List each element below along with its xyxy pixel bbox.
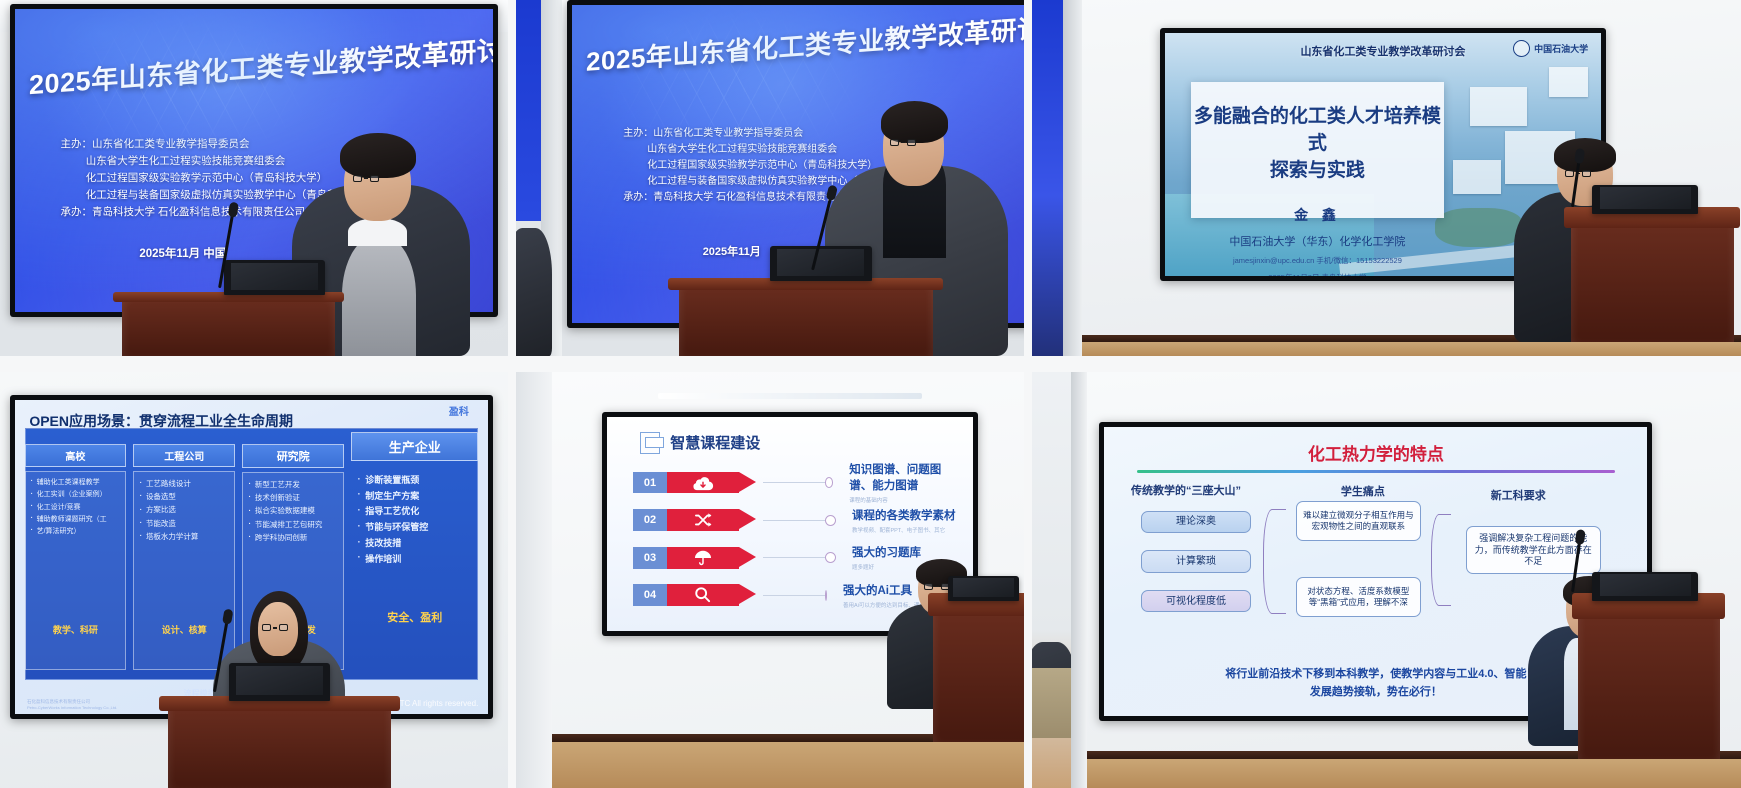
aerial-building bbox=[1453, 160, 1501, 194]
brand-block: 石化盈科信息技术有限责任公司 Petro-CyberWorks Informat… bbox=[27, 699, 117, 710]
slide-date-place: 2025年11月8日 青岛科技大学 bbox=[1268, 272, 1366, 276]
list-item: 设备选型 bbox=[140, 491, 229, 502]
slide-title-line-2: 探索与实践 bbox=[1270, 158, 1365, 185]
panel-chemical-thermodynamics-features[interactable]: 化工热力学的特点 传统教学的“三座大山” 学生痛点 新工科要求 理论深奥 计算繁… bbox=[1032, 372, 1741, 788]
list-item: 化工设计/竞赛 bbox=[31, 503, 120, 514]
row-badge: 01 bbox=[633, 472, 739, 494]
document-outline-icon bbox=[640, 432, 660, 454]
feature-row: 01 bbox=[633, 464, 962, 502]
connector-dot bbox=[825, 477, 833, 488]
speaker-sweater bbox=[342, 234, 415, 356]
list-item: 诊断装置瓶颈 bbox=[358, 474, 472, 488]
wall-column bbox=[1063, 0, 1081, 356]
room-floor bbox=[516, 742, 1024, 788]
row-number: 04 bbox=[633, 584, 667, 606]
list-item: 拟合实验数据建模 bbox=[248, 505, 337, 516]
list-item: 技术创新验证 bbox=[248, 492, 337, 503]
row-text: 知识图谱、问题图谱、能力图谱 课程的基础内容 bbox=[849, 461, 962, 504]
mountain-box-3: 可视化程度低 bbox=[1141, 590, 1251, 612]
title-underline-rule bbox=[1137, 470, 1615, 473]
aerial-building bbox=[1549, 67, 1588, 96]
aerial-greenery bbox=[1435, 208, 1522, 247]
connector-dot bbox=[825, 515, 836, 526]
list-item: 节能与环保管控 bbox=[358, 521, 472, 535]
gutter-horizontal bbox=[0, 356, 1741, 372]
list-item: 新型工艺开发 bbox=[248, 479, 337, 490]
scenario-column-universities: 高校 辅助化工类课程教学 化工实训（企业案例） 化工设计/竞赛 辅助教师课题研究… bbox=[25, 444, 127, 670]
adjacent-screen-edge bbox=[516, 0, 541, 221]
speaker-glasses bbox=[262, 624, 288, 631]
title-card: 多能融合的化工类人才培养模式 探索与实践 金 鑫 中国石油大学（华东）化学化工学… bbox=[1191, 82, 1444, 218]
list-item: 节能改造 bbox=[140, 518, 229, 529]
row-subtext: 教学视频、配套PPT、电子图书、其它 bbox=[852, 526, 956, 534]
row-badge: 03 bbox=[633, 547, 739, 569]
scenario-column-production-enterprise: 生产企业 诊断装置瓶颈 制定生产方案 指导工艺优化 节能与环保管控 技改技措 操… bbox=[351, 444, 478, 670]
list-item: 节能减排工艺包研究 bbox=[248, 519, 337, 530]
column-header-pain-points: 学生痛点 bbox=[1341, 483, 1385, 499]
shuffle-icon bbox=[667, 509, 739, 531]
list-item: 指导工艺优化 bbox=[358, 505, 472, 519]
brace-left bbox=[1263, 509, 1285, 614]
left-wall-panel bbox=[516, 372, 552, 788]
slide-title-line-1: 多能融合的化工类人才培养模式 bbox=[1191, 104, 1444, 158]
lectern-5 bbox=[933, 593, 1024, 743]
lecture-room-4: 盈科 OPEN应用场景：贯穿流程工业全生命周期 高校 辅助化工类课程教学 化工实… bbox=[0, 372, 508, 788]
column-header: 工程公司 bbox=[133, 444, 235, 467]
speaker-collar bbox=[348, 218, 407, 246]
row-heading: 知识图谱、问题图谱、能力图谱 bbox=[849, 461, 962, 493]
list-item: 制定生产方案 bbox=[358, 490, 472, 504]
slide-date-line: 2025年11月 bbox=[703, 243, 761, 259]
slide-title: 化工热力学的特点 bbox=[1104, 440, 1647, 465]
connector-dot bbox=[825, 590, 827, 601]
pcitc-logo: 盈科 bbox=[449, 403, 469, 418]
mountain-box-1: 理论深奥 bbox=[1141, 511, 1251, 533]
row-number: 02 bbox=[633, 509, 667, 531]
lectern-1 bbox=[122, 292, 335, 356]
speaker-name: 金 鑫 bbox=[1294, 205, 1341, 225]
row-badge: 02 bbox=[633, 509, 739, 531]
speaker-hair bbox=[1554, 138, 1616, 172]
lectern-2 bbox=[679, 278, 933, 356]
gutter-vertical-right bbox=[1024, 0, 1032, 788]
speaker-hair bbox=[340, 133, 415, 179]
slide-title-row: 智慧课程建设 bbox=[640, 432, 760, 454]
photo-collage: 2025年山东省化工类专业教学改革研讨会 主办：山东省化工类专业教学指导委员会 … bbox=[0, 0, 1741, 788]
lecture-room-1: 2025年山东省化工类专业教学改革研讨会 主办：山东省化工类专业教学指导委员会 … bbox=[0, 0, 508, 356]
speaker-glasses bbox=[890, 139, 916, 146]
lectern-6 bbox=[1578, 593, 1720, 759]
list-item: 塔板水力学计算 bbox=[140, 531, 229, 542]
background-person-6 bbox=[1032, 572, 1075, 738]
background-person-trousers bbox=[1032, 668, 1071, 738]
mountain-box-2: 计算繁琐 bbox=[1141, 550, 1251, 572]
room-floor bbox=[1032, 759, 1741, 788]
lecture-room-3: 山东省化工类专业教学改革研讨会 中国石油大学 多能融合的化工类人才培养模式 探索… bbox=[1032, 0, 1741, 356]
speaker-affiliation: 中国石油大学（华东）化学化工学院 bbox=[1229, 233, 1405, 249]
lectern-3 bbox=[1571, 207, 1734, 342]
decorative-mesh-globe bbox=[53, 15, 316, 161]
panel-keynote-jin-xin[interactable]: 山东省化工类专业教学改革研讨会 中国石油大学 多能融合的化工类人才培养模式 探索… bbox=[1032, 0, 1741, 356]
brand-name-en: Petro-CyberWorks Information Technology … bbox=[27, 705, 117, 710]
row-text: 课程的各类教学素材 教学视频、配套PPT、电子图书、其它 bbox=[852, 507, 956, 534]
list-item: 技改技措 bbox=[358, 537, 472, 551]
speaker-hair bbox=[881, 101, 949, 144]
background-person-body bbox=[516, 228, 552, 356]
university-logo-name: 中国石油大学 bbox=[1534, 42, 1588, 55]
list-item: 方案比选 bbox=[140, 504, 229, 515]
room-floor bbox=[1032, 342, 1741, 356]
row-heading: 课程的各类教学素材 bbox=[852, 507, 956, 523]
panel-smart-course-construction[interactable]: 智慧课程建设 01 bbox=[516, 372, 1024, 788]
lecture-room-6: 化工热力学的特点 传统教学的“三座大山” 学生痛点 新工科要求 理论深奥 计算繁… bbox=[1032, 372, 1741, 788]
pain-point-box-2: 对状态方程、活度系数模型等“黑箱”式应用，理解不深 bbox=[1296, 577, 1421, 617]
column-header-new-engineering: 新工科要求 bbox=[1491, 487, 1546, 503]
speaker-glasses bbox=[924, 583, 950, 590]
umbrella-icon bbox=[667, 547, 739, 569]
laptop-5 bbox=[948, 576, 1019, 601]
column-header: 研究院 bbox=[242, 444, 344, 468]
panel-open-application-scenarios[interactable]: 盈科 OPEN应用场景：贯穿流程工业全生命周期 高校 辅助化工类课程教学 化工实… bbox=[0, 372, 508, 788]
column-header-traditional: 传统教学的“三座大山” bbox=[1131, 482, 1241, 498]
list-item: 操作培训 bbox=[358, 553, 472, 567]
gutter-vertical-left bbox=[508, 0, 516, 788]
connector-line bbox=[763, 520, 825, 521]
slide-title: 智慧课程建设 bbox=[670, 432, 760, 453]
list-item: 辅助化工类课程教学 bbox=[31, 478, 120, 489]
cloud-download-icon bbox=[667, 472, 739, 494]
lecture-room-5: 智慧课程建设 01 bbox=[516, 372, 1024, 788]
speaker-contact: jamesjinxin@upc.edu.cn 手机/微信：15153222529 bbox=[1233, 255, 1402, 266]
connector-line bbox=[763, 557, 825, 558]
laptop-2 bbox=[770, 246, 872, 282]
adjacent-blue-screen bbox=[1032, 0, 1063, 356]
pain-point-box-1: 难以建立微观分子相互作用与宏观物性之间的直观联系 bbox=[1296, 501, 1421, 541]
list-item: 工艺路线设计 bbox=[140, 478, 229, 489]
slide-date-line: 2025年11月 中国 bbox=[139, 245, 226, 261]
connector-line bbox=[763, 482, 825, 483]
magnifier-icon bbox=[667, 584, 739, 606]
column-tag: 安全、盈利 bbox=[351, 609, 478, 625]
laptop-4 bbox=[229, 663, 331, 700]
panel-opening-ceremony-speaker-1[interactable]: 2025年山东省化工类专业教学改革研讨会 主办：山东省化工类专业教学指导委员会 … bbox=[0, 0, 508, 356]
connector-line bbox=[763, 595, 825, 596]
background-person bbox=[516, 228, 552, 356]
feature-row: 02 bbox=[633, 501, 962, 539]
ceiling-light bbox=[658, 393, 922, 400]
connector-dot bbox=[825, 552, 836, 563]
column-body: 诊断装置瓶颈 制定生产方案 指导工艺优化 节能与环保管控 技改技措 操作培训 安… bbox=[351, 466, 478, 670]
panel-opening-ceremony-speaker-2[interactable]: 2025年山东省化工类专业教学改革研讨会 主办：山东省化工类专业教学指导委员会 … bbox=[516, 0, 1024, 356]
column-header: 生产企业 bbox=[351, 432, 478, 461]
row-number: 01 bbox=[633, 472, 667, 494]
laptop-6 bbox=[1592, 572, 1698, 601]
speaker-glasses bbox=[353, 175, 379, 182]
brace-right bbox=[1431, 514, 1451, 606]
lecture-room-2: 2025年山东省化工类专业教学改革研讨会 主办：山东省化工类专业教学指导委员会 … bbox=[516, 0, 1024, 356]
column-tag: 教学、科研 bbox=[26, 623, 126, 636]
row-badge: 04 bbox=[633, 584, 739, 606]
university-logo: 中国石油大学 bbox=[1513, 40, 1588, 57]
laptop-1 bbox=[224, 260, 326, 296]
column-body: 辅助化工类课程教学 化工实训（企业案例） 化工设计/竞赛 辅助教师课题研究（工 … bbox=[25, 471, 127, 670]
row-number: 03 bbox=[633, 547, 667, 569]
laptop-3 bbox=[1592, 185, 1698, 213]
column-header: 高校 bbox=[25, 444, 127, 467]
list-item-cont: 艺/算法研究） bbox=[31, 527, 120, 538]
list-item: 跨学科协同创新 bbox=[248, 532, 337, 543]
university-seal-icon bbox=[1513, 40, 1530, 57]
list-item: 辅助教师课题研究（工 bbox=[31, 515, 120, 526]
lectern-4 bbox=[168, 696, 392, 788]
wall-column bbox=[1071, 372, 1087, 788]
list-item: 化工实训（企业案例） bbox=[31, 490, 120, 501]
